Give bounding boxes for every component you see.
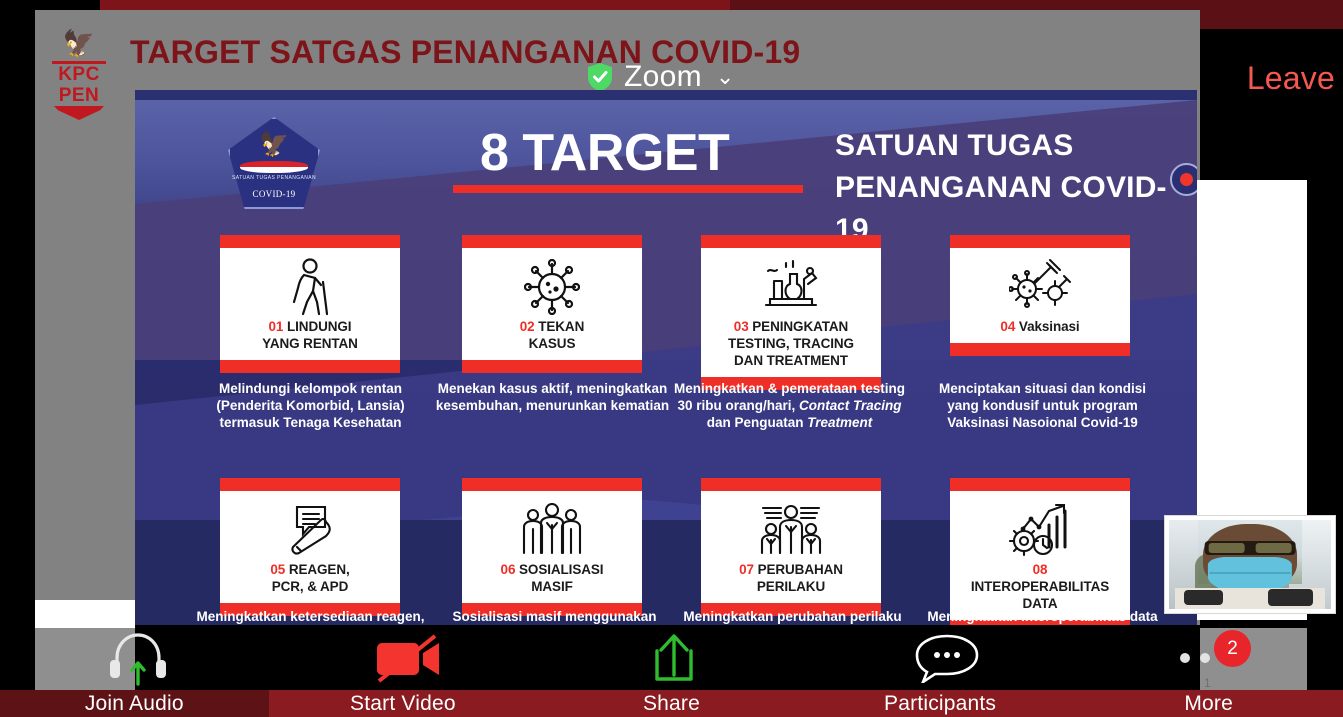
meeting-info-chip[interactable]: Zoom ⌄ [586,60,734,94]
target-card-02-title-l1: TEKAN [538,319,584,334]
chevron-down-icon[interactable]: ⌄ [716,64,734,90]
gear-chart-data-icon [1009,499,1071,561]
target-card-05-title-l1: REAGEN, [289,562,350,577]
target-card-03-number: 03 [734,319,749,334]
target-card-05-title: 05 REAGEN, PCR, & APD [270,561,349,597]
target-card-05-caption: Meningkatkan ketersediaan reagen, PCR da… [193,608,428,625]
participants-count-badge: 2 [1214,630,1251,667]
target-card-03: 03 PENINGKATAN TESTING, TRACING DAN TREA… [701,235,881,390]
target-card-07: 07 PERUBAHAN PERILAKU [701,478,881,616]
target-card-02-title-l2: KASUS [529,336,576,351]
target-card-05-title-l2: PCR, & APD [272,579,349,594]
target-card-03-caption: Meningkatkan & pemerataan testing 30 rib… [672,380,907,431]
target-card-01: 01 LINDUNGI YANG RENTAN [220,235,400,373]
presenter-video-thumbnail[interactable] [1164,515,1336,614]
syringe-vaccine-icon [1009,256,1071,318]
toolbar-item-join-audio[interactable]: Join Audio [0,690,269,717]
target-card-02-number: 02 [520,319,535,334]
page-dot-2 [1200,653,1210,663]
garuda-icon: 🦅 [259,133,289,157]
target-card-02: 02 TEKAN KASUS [462,235,642,373]
target-card-02-title: 02 TEKAN KASUS [520,318,584,354]
slide-headline: 8 TARGET [480,123,729,183]
target-card-08-number: 08 [1033,562,1048,577]
target-card-06-title-l1: SOSIALISASI [519,562,603,577]
target-card-06: 06 SOSIALISASI MASIF [462,478,642,616]
target-card-01-title-l1: LINDUNGI [287,319,351,334]
toolbar-label-row: Join Audio Start Video Share Participant… [0,690,1343,717]
target-card-07-caption: Meningkatkan perubahan perilaku kepatuha… [675,608,910,625]
target-card-08-title: 08 INTEROPERABILITAS DATA [971,561,1109,614]
logo-line-1: KPC [50,64,108,85]
toolbar-item-participants[interactable]: Participants [806,690,1075,717]
target-card-08: 08 INTEROPERABILITAS DATA [950,478,1130,625]
target-card-05-number: 05 [270,562,285,577]
target-card-07-title-l1: PERUBAHAN [758,562,843,577]
slide-subheadline: SATUAN TUGAS PENANGANAN COVID-19 [835,125,1197,251]
target-card-08-title-l2: INTEROPERABILITAS [971,579,1109,594]
target-card-01-title-l2: YANG RENTAN [262,336,358,351]
camera-off-icon[interactable] [373,633,445,690]
left-white-panel [35,600,135,628]
target-card-04-title: 04 Vaksinasi [1000,318,1079,337]
thumb-person-shirt [1175,588,1324,609]
target-card-06-caption: Sosialisasi masif menggunakan semua sumb… [437,608,672,625]
target-card-04-title-l1: Vaksinasi [1019,319,1080,334]
target-card-01-caption: Melindungi kelompok rentan (Penderita Ko… [193,380,428,431]
target-card-07-number: 07 [739,562,754,577]
microscope-lab-icon [760,256,822,318]
garuda-emblem-icon: 🦅 [63,30,95,56]
logo-text: KPC PEN [50,64,108,106]
recording-indicator-icon [1170,163,1197,196]
target-card-03-title-l1: PENINGKATAN [752,319,848,334]
target-card-06-title: 06 SOSIALISASI MASIF [501,561,604,597]
meeting-app-label: Zoom [624,60,702,94]
shared-slide: 🦅 SATUAN TUGAS PENANGANAN COVID-19 8 TAR… [135,90,1197,625]
target-card-08-caption: Meningkatkan interoperabilitas data kese… [925,608,1160,625]
page-dot-1 [1180,653,1190,663]
target-card-06-number: 06 [501,562,516,577]
target-card-04: 04 Vaksinasi [950,235,1130,356]
people-behaviour-icon [759,499,823,561]
satgas-badge-subtext: SATUAN TUGAS PENANGANAN [228,175,320,181]
target-card-07-title: 07 PERUBAHAN PERILAKU [739,561,843,597]
target-card-03-caption-em1: Contact Tracing [799,398,902,413]
target-card-03-title-l3: DAN TREATMENT [734,353,848,368]
target-card-02-caption: Menekan kasus aktif, meningkatkan kesemb… [435,380,670,414]
target-card-03-title-l2: TESTING, TRACING [728,336,854,351]
target-card-01-number: 01 [269,319,284,334]
satgas-badge-maintext: COVID-19 [228,189,320,199]
thumb-mask-fold [1210,572,1291,574]
zoom-meeting-screen: 🦅 KPC PEN TARGET SATGAS PENANGANAN COVID… [0,0,1343,717]
elderly-person-with-cane-icon [283,256,337,318]
kpc-pen-logo: 🦅 KPC PEN [50,30,108,112]
target-card-05: 05 REAGEN, PCR, & APD [220,478,400,616]
presenter-video-frame [1169,520,1331,609]
target-card-04-caption: Menciptakan situasi dan kondisi yang kon… [925,380,1160,431]
leave-button[interactable]: Leave [1247,60,1335,97]
target-card-03-title: 03 PENINGKATAN TESTING, TRACING DAN TREA… [728,318,854,371]
chat-bubble-icon[interactable] [913,633,981,688]
virus-icon [524,256,580,318]
slide-subheadline-line1: SATUAN TUGAS [835,125,1197,167]
three-people-icon [521,499,583,561]
toolbar-left-backdrop [35,628,135,690]
toolbar-item-start-video[interactable]: Start Video [269,690,538,717]
logo-line-2: PEN [50,85,108,106]
satgas-badge: 🦅 SATUAN TUGAS PENANGANAN COVID-19 [228,117,320,209]
share-upload-icon[interactable] [643,631,705,690]
slide-headline-underline [453,185,803,193]
target-card-03-caption-em2: Treatment [807,415,872,430]
toolbar-item-more[interactable]: More [1074,690,1343,717]
desktop-left-black-strip [0,29,35,717]
shield-check-icon [586,62,614,92]
thermometer-test-icon [281,499,339,561]
slide-page-number: 1 [1204,676,1211,690]
target-card-04-number: 04 [1000,319,1015,334]
indonesia-flag-icon [240,161,308,173]
target-card-06-title-l2: MASIF [531,579,573,594]
toolbar-icon-row [35,625,1343,690]
thumb-person-glasses [1205,541,1296,554]
target-card-01-title: 01 LINDUNGI YANG RENTAN [262,318,358,354]
target-card-07-title-l2: PERILAKU [757,579,825,594]
toolbar-item-share[interactable]: Share [537,690,806,717]
